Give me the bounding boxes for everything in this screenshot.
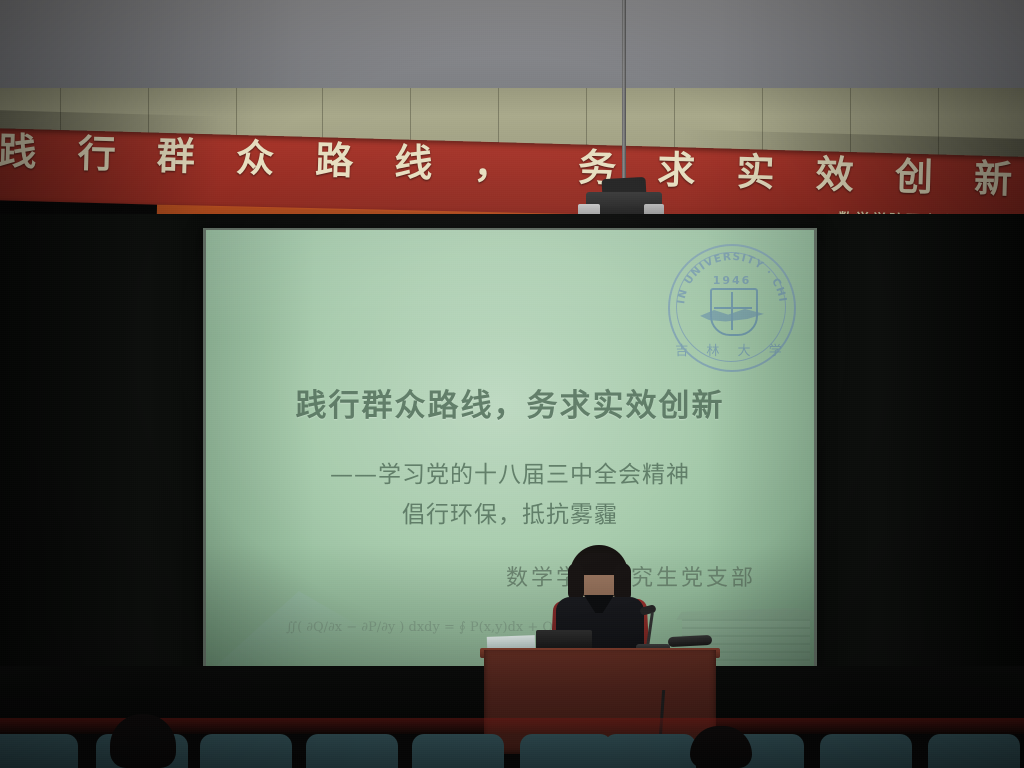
banner-slogan-left: 践 行 群 众 路 线 ， xyxy=(0,120,527,190)
slide-subtitle-secondary: 倡行环保，抵抗雾霾 xyxy=(206,495,814,529)
podium-object xyxy=(536,630,592,650)
projection-screen: JILIN UNIVERSITY · CHINA 1946 吉 林 大 学 践行… xyxy=(206,230,814,666)
curtain-left xyxy=(0,214,206,694)
ceiling xyxy=(0,0,1024,92)
slide-subtitle: ——学习党的十八届三中全会精神 xyxy=(206,455,814,489)
seal-year: 1946 xyxy=(670,274,794,287)
curtain-right xyxy=(816,214,1024,694)
auditorium-photo: 践 行 群 众 路 线 ， 务 求 实 效 创 新 数学学院研究生党支部宣 JI… xyxy=(0,0,1024,768)
seal-chinese-name: 吉 林 大 学 xyxy=(670,340,794,359)
university-seal: JILIN UNIVERSITY · CHINA 1946 吉 林 大 学 xyxy=(668,244,796,372)
slide-title: 践行群众路线，务求实效创新 xyxy=(206,380,814,425)
audience-head xyxy=(110,714,176,768)
projector-pole xyxy=(622,0,626,186)
slide-mountain-artwork xyxy=(216,570,446,666)
